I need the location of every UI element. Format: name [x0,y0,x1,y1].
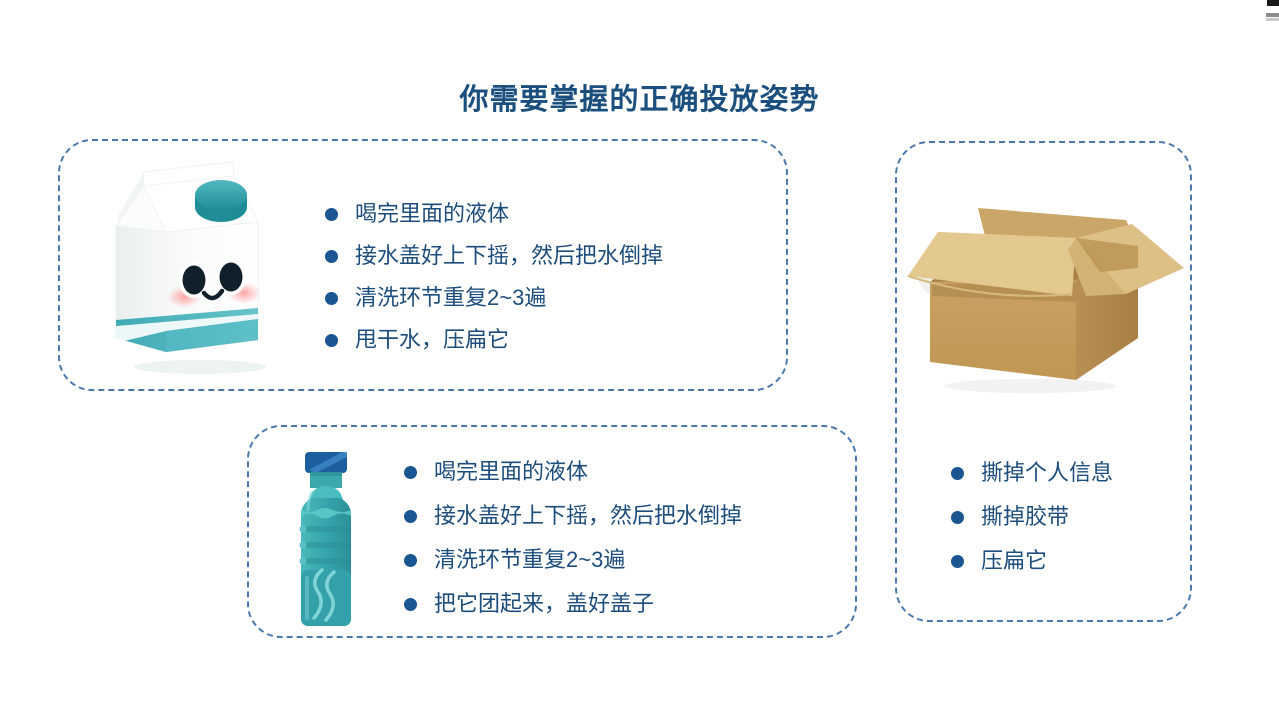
scrollbar-track[interactable] [1266,18,1279,21]
list-item: 接水盖好上下摇，然后把水倒掉 [404,505,742,527]
list-item-label: 甩干水，压扁它 [355,329,509,351]
list-item: 清洗环节重复2~3遍 [325,287,663,309]
bullet-dot-icon [951,511,964,524]
list-item-label: 压扁它 [981,550,1047,572]
list-item: 撕掉个人信息 [951,462,1113,484]
bullet-dot-icon [951,467,964,480]
carton-instruction-list: 喝完里面的液体 接水盖好上下摇，然后把水倒掉 清洗环节重复2~3遍 甩干水，压扁… [325,203,663,371]
plastic-bottle-illustration [284,448,368,630]
list-item-label: 接水盖好上下摇，然后把水倒掉 [434,505,742,527]
list-item: 撕掉胶带 [951,506,1113,528]
list-item-label: 清洗环节重复2~3遍 [434,549,625,571]
list-item: 喝完里面的液体 [404,461,742,483]
list-item-label: 接水盖好上下摇，然后把水倒掉 [355,245,663,267]
list-item: 甩干水，压扁它 [325,329,663,351]
list-item-label: 撕掉胶带 [981,506,1069,528]
list-item-label: 喝完里面的液体 [355,203,509,225]
bullet-dot-icon [404,466,417,479]
box-instruction-list: 撕掉个人信息 撕掉胶带 压扁它 [951,462,1113,594]
list-item-label: 撕掉个人信息 [981,462,1113,484]
bottle-instruction-list: 喝完里面的液体 接水盖好上下摇，然后把水倒掉 清洗环节重复2~3遍 把它团起来，… [404,461,742,637]
list-item: 接水盖好上下摇，然后把水倒掉 [325,245,663,267]
list-item: 清洗环节重复2~3遍 [404,549,742,571]
scrollbar-thumb[interactable] [1266,13,1279,17]
list-item-label: 清洗环节重复2~3遍 [355,287,546,309]
bullet-dot-icon [325,292,338,305]
list-item: 把它团起来，盖好盖子 [404,593,742,615]
list-item: 喝完里面的液体 [325,203,663,225]
bullet-dot-icon [404,554,417,567]
bullet-dot-icon [404,598,417,611]
bullet-dot-icon [325,208,338,221]
bullet-dot-icon [325,250,338,263]
bullet-dot-icon [404,510,417,523]
scrollbar-cap [1267,0,1279,6]
list-item-label: 喝完里面的液体 [434,461,588,483]
milk-carton-illustration [108,160,288,380]
page-title: 你需要掌握的正确投放姿势 [0,76,1279,118]
list-item: 压扁它 [951,550,1113,572]
cardboard-box-illustration [900,190,1190,405]
bullet-dot-icon [325,334,338,347]
bullet-dot-icon [951,555,964,568]
list-item-label: 把它团起来，盖好盖子 [434,593,654,615]
